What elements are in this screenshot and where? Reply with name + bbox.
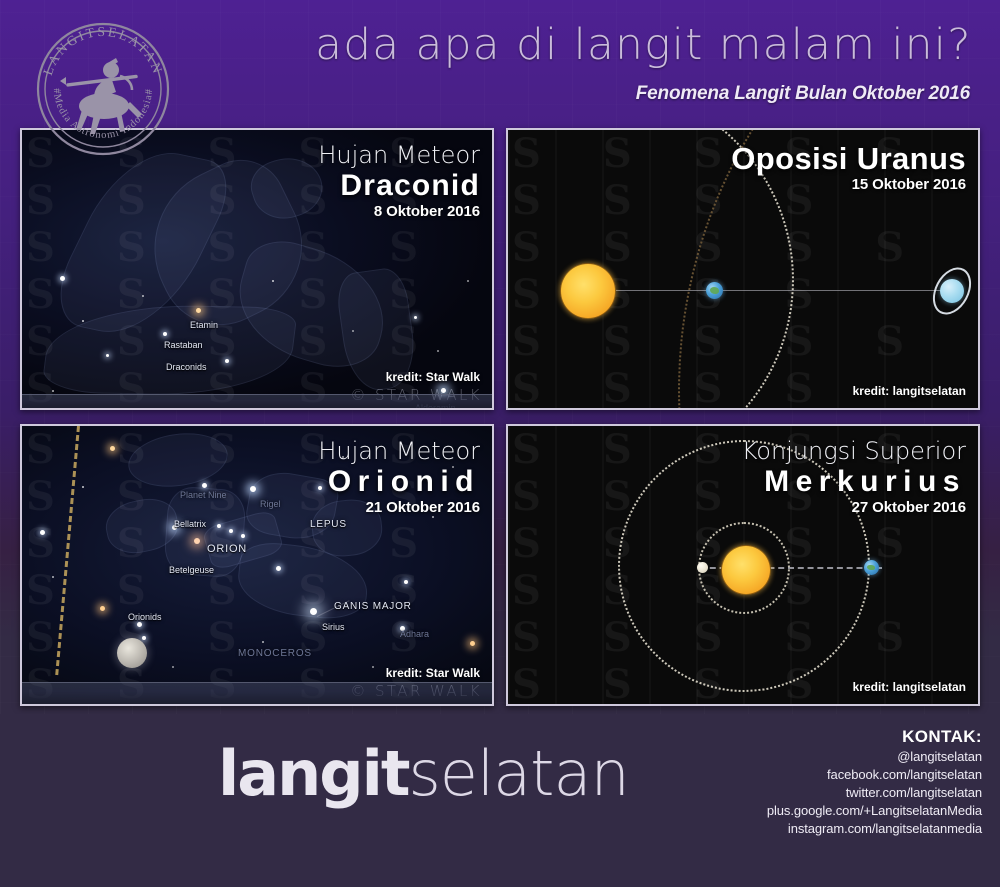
contact-block: KONTAK: @langitselatan facebook.com/lang…	[767, 726, 982, 838]
panel-uranus[interactable]: S S S S S S S S S S S S S S S S S S S S …	[506, 128, 980, 410]
poster-root: ada apa di langit malam ini? Fenomena La…	[0, 0, 1000, 887]
star-belt-1	[217, 524, 221, 528]
sun-body	[721, 545, 771, 595]
star-label-rigel: Rigel	[260, 499, 281, 509]
mercury-body	[697, 562, 708, 573]
star-dust-o6	[372, 666, 374, 668]
contact-instagram[interactable]: instagram.com/langitselatanmedia	[767, 820, 982, 838]
star-dust-1	[82, 320, 84, 322]
star-dust-o4	[262, 641, 264, 643]
wordmark-bold: langit	[218, 737, 409, 810]
panel-date: 15 Oktober 2016	[731, 175, 966, 194]
contact-twitter[interactable]: twitter.com/langitselatan	[767, 784, 982, 802]
star-betelgeuse	[194, 538, 200, 544]
star-label-draconids: Draconids	[166, 362, 207, 372]
star-label-sirius: Sirius	[322, 622, 345, 632]
constellation-label-orion: ORION	[207, 543, 247, 555]
star-belt-2	[229, 529, 233, 533]
panel-kicker: Konjungsi Superior	[742, 438, 966, 465]
star-dust-o1	[82, 486, 84, 488]
panel-kicker: Hujan Meteor	[318, 438, 480, 465]
star-field-a	[60, 276, 65, 281]
sun-body	[560, 263, 616, 319]
star-dust-4	[352, 330, 354, 332]
star-dust-3	[272, 280, 274, 282]
star-rigel	[250, 486, 256, 492]
star-orionids-radiant	[137, 622, 142, 627]
star-dust-12	[52, 390, 54, 392]
star-field-c	[106, 354, 109, 357]
panel-merkurius[interactable]: S S S S S S S S S S S S S S S S S S S S …	[506, 424, 980, 706]
page-subtitle: Fenomena Langit Bulan Oktober 2016	[636, 84, 970, 104]
star-dust-9	[437, 350, 439, 352]
star-sirius	[310, 608, 317, 615]
contact-googleplus[interactable]: plus.google.com/+LangitselatanMedia	[767, 802, 982, 820]
horizon-band	[22, 394, 492, 408]
star-label-rastaban: Rastaban	[164, 340, 203, 350]
star-label-orionids: Orionids	[128, 612, 162, 622]
earth-body	[706, 282, 723, 299]
star-field-amber-3	[470, 641, 475, 646]
opposition-sight-line	[593, 290, 958, 291]
star-etamin	[196, 308, 201, 313]
star-belt-3	[241, 534, 245, 538]
constellation-label-monoceros: MONOCEROS	[238, 648, 312, 659]
panel-name: Merkurius	[742, 465, 966, 498]
panel-credit: kredit: langitselatan	[853, 680, 966, 694]
panel-name: Orionid	[318, 465, 480, 498]
langitselatan-seal-logo: LANGITSELATAN #Media Astronomi Indonesia…	[32, 18, 174, 160]
star-field-j	[142, 636, 146, 640]
star-rastaban	[163, 332, 167, 336]
star-field-amber-1	[110, 446, 115, 451]
constellation-label-canis-major: GANIS MAJOR	[334, 601, 412, 612]
star-planet-nine	[202, 483, 207, 488]
star-label-bellatrix: Bellatrix	[174, 519, 206, 529]
star-draconids	[225, 359, 229, 363]
panel-date: 8 Oktober 2016	[318, 202, 480, 221]
panel-date: 27 Oktober 2016	[742, 498, 966, 517]
panel-heading-orionid: Hujan Meteor Orionid 21 Oktober 2016	[318, 438, 480, 517]
panel-credit: kredit: langitselatan	[853, 384, 966, 398]
contact-facebook[interactable]: facebook.com/langitselatan	[767, 766, 982, 784]
star-label-adhara: Adhara	[400, 629, 429, 639]
panel-credit: kredit: Star Walk	[386, 370, 480, 384]
panel-date: 21 Oktober 2016	[318, 498, 480, 517]
seal-top-text: LANGITSELATAN	[40, 24, 166, 77]
contact-handle[interactable]: @langitselatan	[767, 748, 982, 766]
page-title: ada apa di langit malam ini?	[315, 22, 972, 68]
star-field-amber-2	[100, 606, 105, 611]
constellation-label-lepus: LEPUS	[310, 519, 347, 530]
wordmark: langitselatan	[218, 742, 629, 806]
panel-name: Oposisi Uranus	[731, 142, 966, 175]
star-saiph	[276, 566, 281, 571]
panel-heading-uranus: Oposisi Uranus 15 Oktober 2016	[731, 142, 966, 194]
star-field-g	[40, 530, 45, 535]
moon-body	[117, 638, 147, 668]
panel-name: Draconid	[318, 169, 480, 202]
star-dust-11	[467, 280, 469, 282]
star-label-planet-nine: Planet Nine	[180, 490, 227, 500]
contact-title: KONTAK:	[767, 726, 982, 748]
horizon-band	[22, 682, 492, 704]
star-dust-o5	[172, 666, 174, 668]
star-field-h	[404, 580, 408, 584]
star-dust-o7	[52, 576, 54, 578]
panel-credit: kredit: Star Walk	[386, 666, 480, 680]
panel-draconid[interactable]: S S S S S S S S S S S S S S S S S S S S …	[20, 128, 494, 410]
star-label-etamin: Etamin	[190, 320, 218, 330]
earth-body	[864, 560, 879, 575]
star-field-e	[414, 316, 417, 319]
panel-orionid[interactable]: S S S S S S S S S S S S S S S S S S S S …	[20, 424, 494, 706]
star-label-betelgeuse: Betelgeuse	[169, 565, 214, 575]
star-dust-2	[142, 295, 144, 297]
panel-heading-merkurius: Konjungsi Superior Merkurius 27 Oktober …	[742, 438, 966, 517]
panel-kicker: Hujan Meteor	[318, 142, 480, 169]
wordmark-light: selatan	[409, 737, 629, 810]
panel-heading-draconid: Hujan Meteor Draconid 8 Oktober 2016	[318, 142, 480, 221]
